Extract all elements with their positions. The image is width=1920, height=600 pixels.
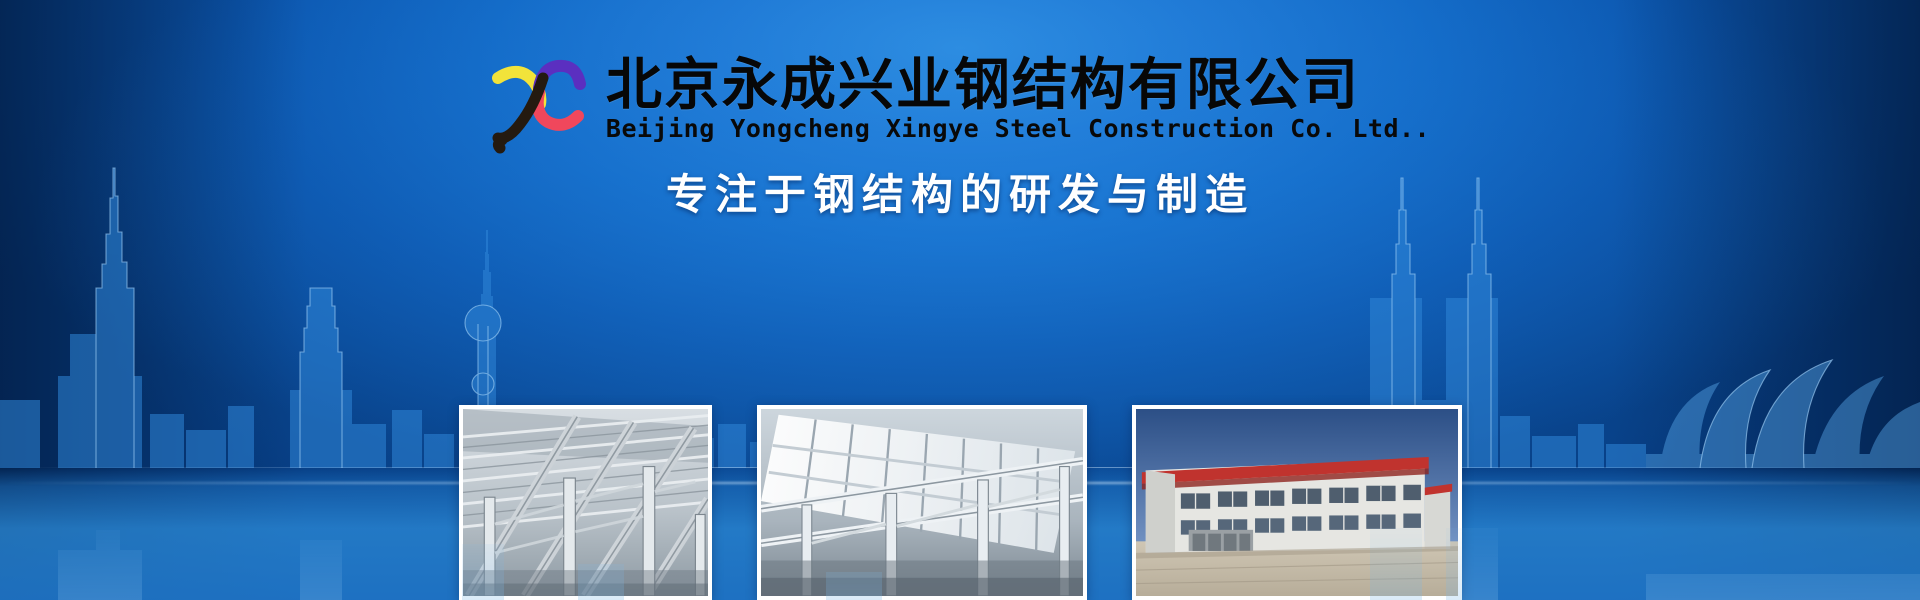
title-group: 北京永成兴业钢结构有限公司 Beijing Yongcheng Xingye S… xyxy=(606,56,1430,144)
photo-strip: 钢结构厂房内部钢梁框架 xyxy=(0,405,1920,600)
tagline: 专注于钢结构的研发与制造 xyxy=(0,170,1920,220)
photo-steel-frame-interior: 钢结构厂房内部钢梁框架 xyxy=(459,405,712,600)
brand-row: 北京永成兴业钢结构有限公司 Beijing Yongcheng Xingye S… xyxy=(0,44,1920,156)
banner-header: 北京永成兴业钢结构有限公司 Beijing Yongcheng Xingye S… xyxy=(0,0,1920,220)
company-name-cn: 北京永成兴业钢结构有限公司 xyxy=(606,56,1430,116)
promo-banner: 北京永成兴业钢结构有限公司 Beijing Yongcheng Xingye S… xyxy=(0,0,1920,600)
photo-factory-building-exterior: 红顶白墙厂房外景 xyxy=(1132,405,1462,600)
photo-steel-roof-skylight: 钢结构屋顶采光板 xyxy=(757,405,1087,600)
company-logo-icon xyxy=(490,48,588,156)
company-name-en: Beijing Yongcheng Xingye Steel Construct… xyxy=(606,114,1430,144)
